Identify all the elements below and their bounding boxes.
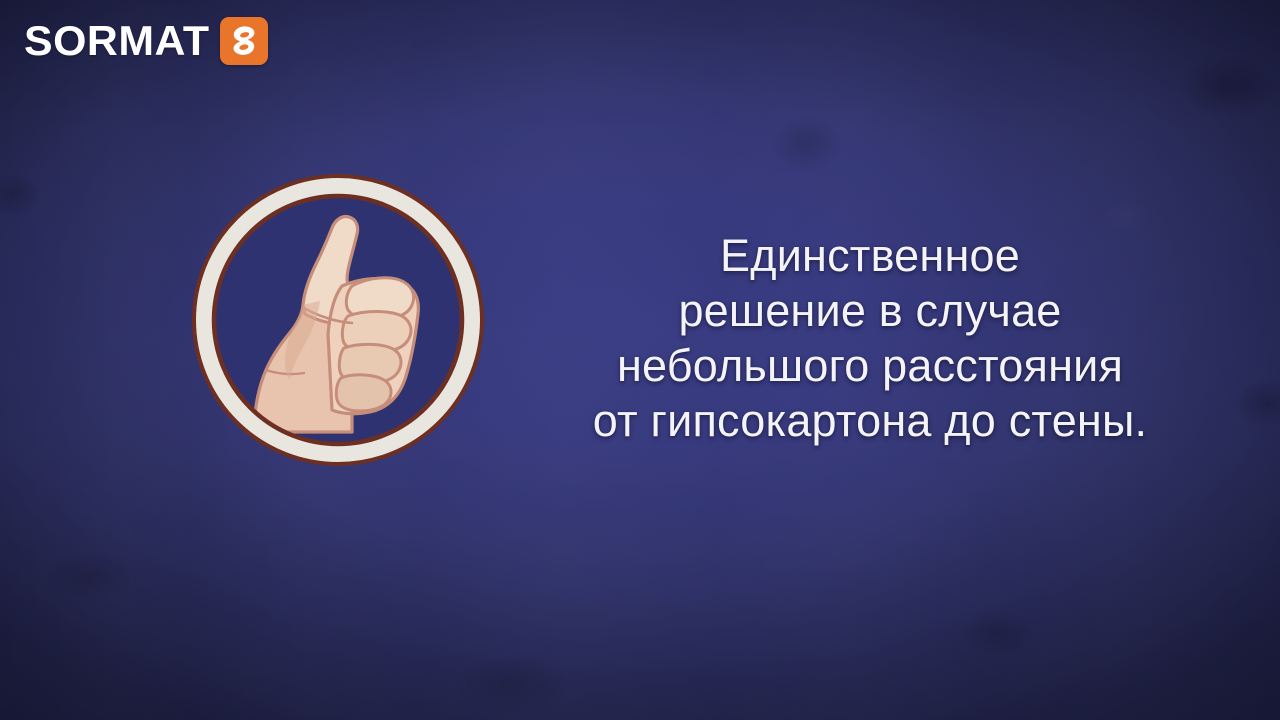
- caption-line-1: Единственное: [500, 228, 1240, 283]
- thumbs-up-badge: [192, 174, 484, 466]
- caption-text: Единственное решение в случае небольшого…: [500, 228, 1240, 448]
- brand-logo: SORMAT: [24, 17, 268, 65]
- caption-line-3: небольшого расстояния: [500, 338, 1240, 393]
- sormat-s-monogram-icon: [220, 17, 268, 65]
- brand-wordmark: SORMAT: [24, 20, 210, 62]
- video-frame: SORMAT: [0, 0, 1280, 720]
- caption-line-4: от гипсокартона до стены.: [500, 393, 1240, 448]
- thumbs-up-icon: [192, 174, 484, 466]
- brand-mark: [220, 17, 268, 65]
- caption-line-2: решение в случае: [500, 283, 1240, 338]
